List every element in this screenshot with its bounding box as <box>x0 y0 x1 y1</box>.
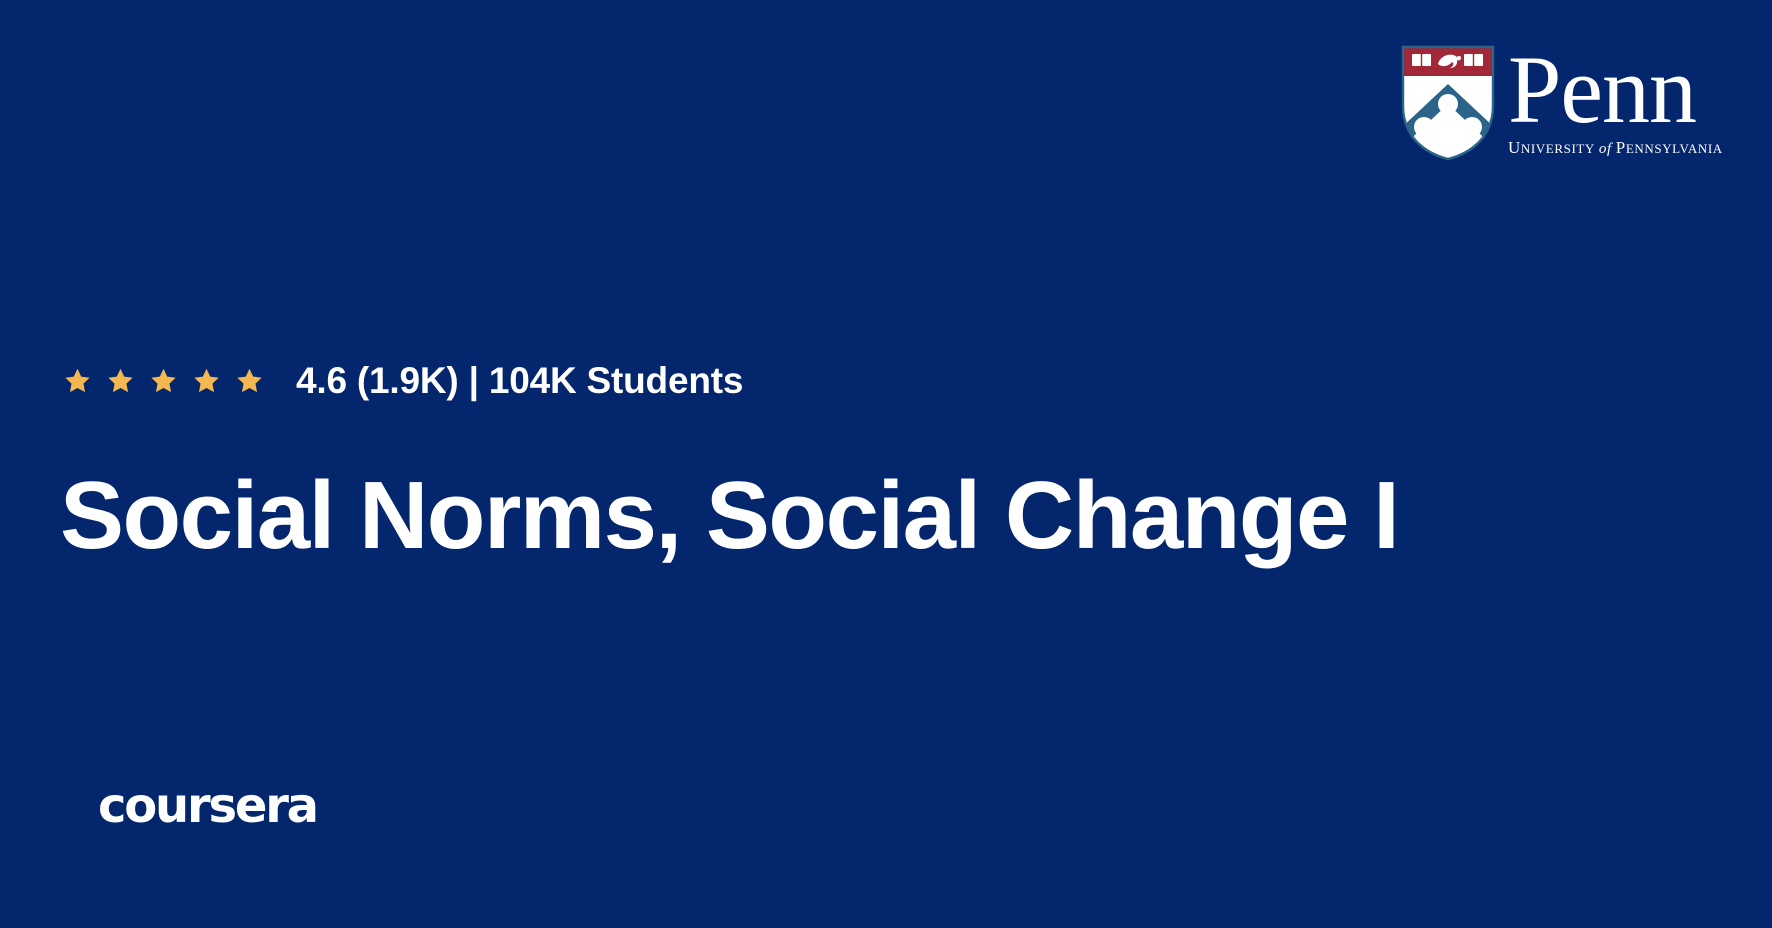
course-title: Social Norms, Social Change I <box>60 462 1480 570</box>
penn-wordmark-text: Penn <box>1508 46 1740 138</box>
coursera-wordmark-logo: coursera <box>98 782 360 834</box>
course-banner: Penn UNIVERSITYofPENNSYLVANIA <box>0 0 1772 928</box>
star-filled-icon <box>107 367 134 394</box>
star-filled-icon <box>150 367 177 394</box>
svg-text:coursera: coursera <box>98 782 317 834</box>
star-filled-icon <box>236 367 263 394</box>
star-filled-icon <box>193 367 220 394</box>
rating-summary-text: 4.6 (1.9K) | 104K Students <box>296 362 743 399</box>
partner-tagline-text: UNIVERSITYofPENNSYLVANIA <box>1508 134 1740 160</box>
partner-wordmark-block: Penn UNIVERSITYofPENNSYLVANIA <box>1508 44 1740 160</box>
svg-text:Penn: Penn <box>1508 46 1696 138</box>
coursera-logo-svg: coursera <box>98 782 360 834</box>
partner-logo: Penn UNIVERSITYofPENNSYLVANIA <box>1400 44 1740 162</box>
star-rating <box>64 367 263 394</box>
rating-row: 4.6 (1.9K) | 104K Students <box>64 355 743 405</box>
svg-text:UNIVERSITYofPENNSYLVANIA: UNIVERSITYofPENNSYLVANIA <box>1508 138 1723 157</box>
star-filled-icon <box>64 367 91 394</box>
penn-shield-icon <box>1400 44 1496 162</box>
